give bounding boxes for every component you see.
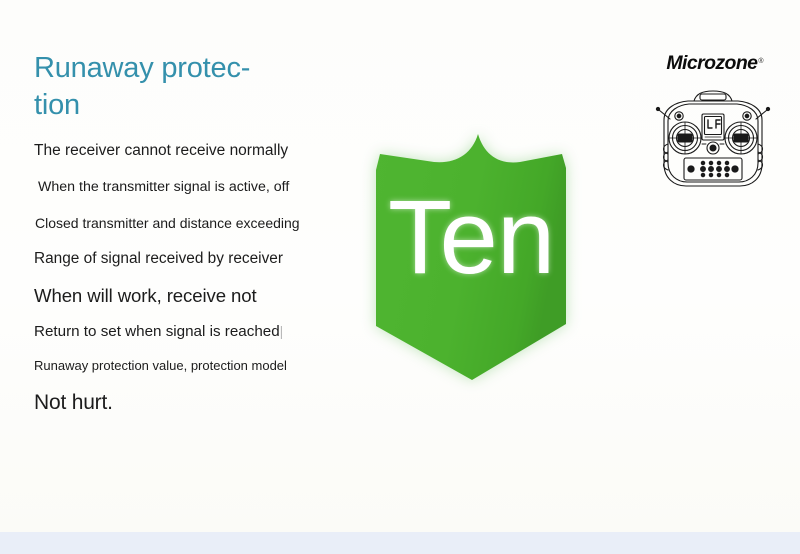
brand-block: Microzone® — [654, 52, 776, 199]
shield-label: Ten — [388, 185, 554, 290]
body-line-3: Closed transmitter and distance exceedin… — [34, 215, 334, 231]
text-content-column: Runaway protec-tion The receiver cannot … — [34, 50, 334, 415]
body-line-2: When the transmitter signal is active, o… — [34, 179, 334, 195]
shield-graphic: Ten — [360, 128, 600, 388]
body-line-6-text: Return to set when signal is reached — [34, 323, 280, 340]
slide-root: Runaway protec-tion The receiver cannot … — [0, 0, 800, 554]
body-line-8: Not hurt. — [34, 391, 334, 415]
bottom-color-band — [0, 532, 800, 554]
body-line-5: When will work, receive not — [34, 285, 334, 307]
body-line-6: Return to set when signal is reached| — [34, 323, 334, 340]
registered-trademark-icon: ® — [758, 58, 763, 65]
body-line-6-cutoff-glyph: | — [280, 323, 284, 339]
brand-name: Microzone — [666, 52, 757, 74]
rc-transmitter-icon — [654, 86, 772, 194]
brand-logo: Microzone® — [654, 52, 776, 80]
body-line-7: Runaway protection value, protection mod… — [34, 358, 334, 373]
body-line-1: The receiver cannot receive normally — [34, 142, 334, 160]
body-line-4: Range of signal received by receiver — [34, 250, 334, 268]
page-title: Runaway protec-tion — [34, 50, 269, 124]
